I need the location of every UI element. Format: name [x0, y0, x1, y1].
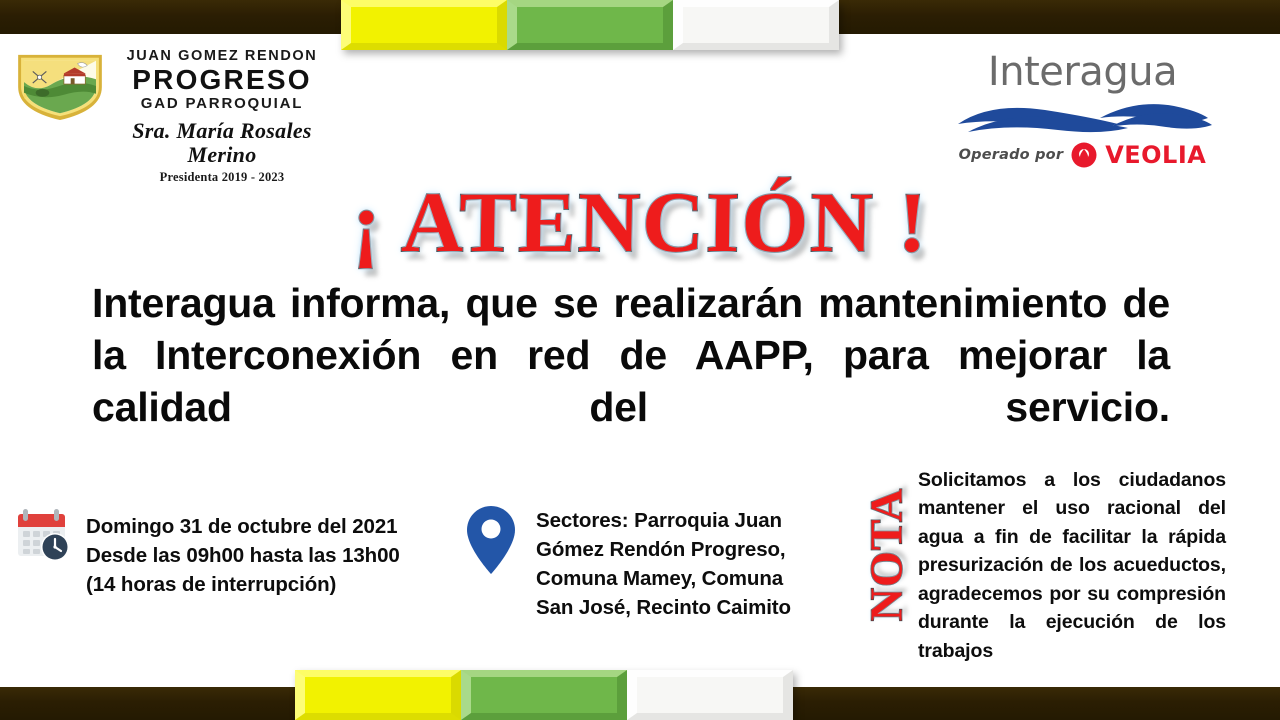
color-block-white	[673, 0, 839, 50]
announcement-poster: JUAN GOMEZ RENDON PROGRESO GAD PARROQUIA…	[0, 0, 1280, 720]
sector-line-3: Comuna Mamey, Comuna	[536, 564, 791, 593]
date-line-2: Desde las 09h00 hasta las 13h00	[86, 541, 400, 570]
gad-line-3: GAD PARROQUIAL	[116, 95, 328, 112]
operated-by-label: Operado por	[959, 147, 1064, 163]
body-paragraph: Interagua informa, que se realizarán man…	[92, 277, 1170, 485]
nota-block: NOTA Solicitamos a los ciudadanos manten…	[856, 466, 1228, 676]
veolia-wordmark: VEOLIA	[1105, 143, 1206, 167]
attention-headline-text: ¡ ATENCIÓN !	[351, 172, 929, 272]
bottom-color-blocks	[295, 670, 793, 720]
calendar-clock-icon	[14, 505, 72, 563]
color-block-yellow	[341, 0, 507, 50]
sector-line-4: San José, Recinto Caimito	[536, 593, 791, 622]
color-block-green-bottom	[461, 670, 627, 720]
interagua-wordmark: Interagua	[950, 52, 1215, 92]
sectors-info: Sectores: Parroquia Juan Gómez Rendón Pr…	[462, 500, 822, 622]
date-lines: Domingo 31 de octubre del 2021 Desde las…	[86, 505, 400, 599]
top-color-blocks	[341, 0, 839, 50]
attention-headline: ¡ ATENCIÓN !	[0, 172, 1280, 272]
coat-of-arms-shield-icon	[12, 50, 108, 122]
date-line-3: (14 horas de interrupción)	[86, 570, 400, 599]
color-block-white-bottom	[627, 670, 793, 720]
gad-line-1: JUAN GOMEZ RENDON	[116, 48, 328, 65]
nota-label: NOTA	[860, 485, 913, 625]
gad-wordmark: JUAN GOMEZ RENDON PROGRESO GAD PARROQUIA…	[116, 48, 328, 185]
color-block-green	[507, 0, 673, 50]
sector-line-2: Gómez Rendón Progreso,	[536, 535, 791, 564]
nota-text: Solicitamos a los ciudadanos mantener el…	[918, 466, 1226, 694]
operated-by-row: Operado por VEOLIA	[950, 142, 1215, 168]
interagua-logo: Interagua Operado por VEOLIA	[950, 52, 1215, 167]
date-line-1: Domingo 31 de octubre del 2021	[86, 512, 400, 541]
president-period: Presidenta 2019 - 2023	[116, 170, 328, 185]
sector-line-1: Sectores: Parroquia Juan	[536, 506, 791, 535]
sector-lines: Sectores: Parroquia Juan Gómez Rendón Pr…	[536, 500, 791, 622]
color-block-yellow-bottom	[295, 670, 461, 720]
map-pin-icon	[462, 500, 520, 580]
gad-parroquial-logo: JUAN GOMEZ RENDON PROGRESO GAD PARROQUIA…	[12, 48, 332, 168]
date-time-info: Domingo 31 de octubre del 2021 Desde las…	[14, 505, 434, 599]
president-name: Sra. María Rosales Merino	[116, 119, 328, 167]
water-waves-icon	[950, 94, 1215, 136]
veolia-drop-icon	[1071, 142, 1097, 168]
gad-line-2: PROGRESO	[116, 66, 328, 94]
